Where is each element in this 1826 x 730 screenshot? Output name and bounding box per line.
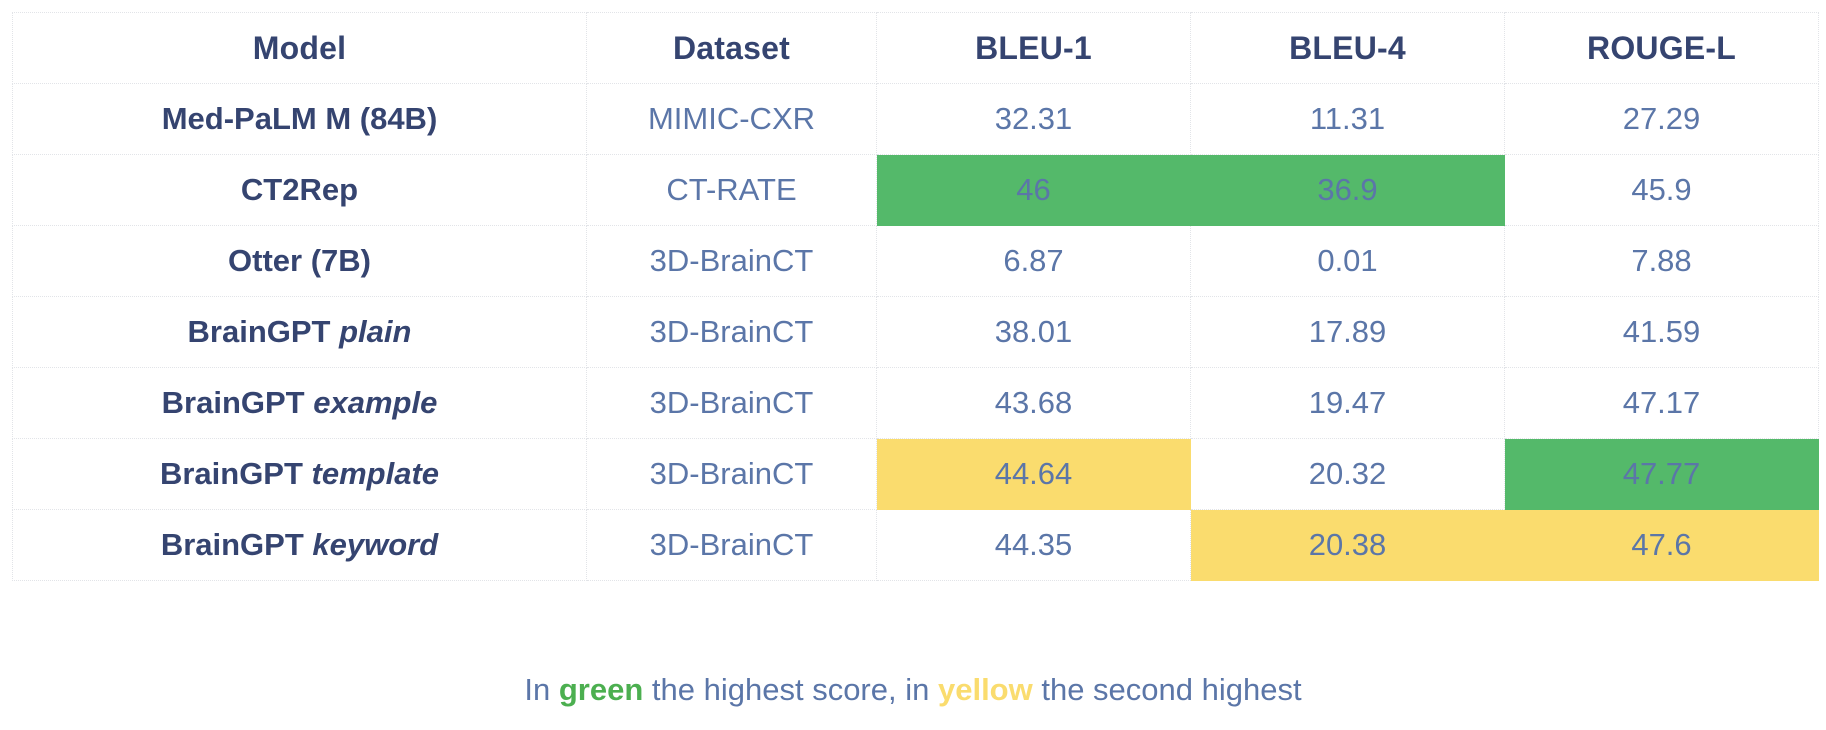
model-variant: keyword: [312, 527, 438, 562]
table-row: BrainGPT template3D-BrainCT44.6420.3247.…: [13, 439, 1819, 510]
table-header: Model Dataset BLEU-1 BLEU-4 ROUGE-L: [13, 13, 1819, 84]
cell-bleu-4: 0.01: [1191, 226, 1505, 297]
table-row: BrainGPT plain3D-BrainCT38.0117.8941.59: [13, 297, 1819, 368]
model-name: BrainGPT: [160, 456, 303, 491]
cell-rouge-l: 47.77: [1505, 439, 1819, 510]
cell-rouge-l: 27.29: [1505, 84, 1819, 155]
cell-dataset: 3D-BrainCT: [587, 439, 877, 510]
cell-bleu-1: 46: [877, 155, 1191, 226]
cell-bleu-4: 36.9: [1191, 155, 1505, 226]
model-variant: template: [312, 456, 439, 491]
table-body: Med-PaLM M (84B)MIMIC-CXR32.3111.3127.29…: [13, 84, 1819, 581]
cell-model: BrainGPT template: [13, 439, 587, 510]
column-header-rouge-l: ROUGE-L: [1505, 13, 1819, 84]
caption-text-part-3: the second highest: [1033, 672, 1302, 707]
model-variant: plain: [339, 314, 411, 349]
column-header-model: Model: [13, 13, 587, 84]
caption-keyword-green: green: [559, 672, 643, 707]
cell-dataset: 3D-BrainCT: [587, 297, 877, 368]
cell-bleu-1: 44.35: [877, 510, 1191, 581]
cell-model: BrainGPT plain: [13, 297, 587, 368]
header-row: Model Dataset BLEU-1 BLEU-4 ROUGE-L: [13, 13, 1819, 84]
cell-dataset: MIMIC-CXR: [587, 84, 877, 155]
caption-keyword-yellow: yellow: [938, 672, 1033, 707]
cell-dataset: 3D-BrainCT: [587, 226, 877, 297]
cell-dataset: CT-RATE: [587, 155, 877, 226]
caption-text-part-2: the highest score, in: [643, 672, 938, 707]
table-row: BrainGPT example3D-BrainCT43.6819.4747.1…: [13, 368, 1819, 439]
model-name: CT2Rep: [241, 172, 358, 207]
cell-model: BrainGPT keyword: [13, 510, 587, 581]
column-header-dataset: Dataset: [587, 13, 877, 84]
cell-model: BrainGPT example: [13, 368, 587, 439]
cell-bleu-4: 20.32: [1191, 439, 1505, 510]
cell-bleu-1: 44.64: [877, 439, 1191, 510]
column-header-bleu-4: BLEU-4: [1191, 13, 1505, 84]
cell-rouge-l: 45.9: [1505, 155, 1819, 226]
cell-rouge-l: 41.59: [1505, 297, 1819, 368]
model-name: BrainGPT: [161, 527, 304, 562]
cell-dataset: 3D-BrainCT: [587, 510, 877, 581]
cell-rouge-l: 7.88: [1505, 226, 1819, 297]
cell-bleu-4: 11.31: [1191, 84, 1505, 155]
model-variant: example: [313, 385, 437, 420]
cell-bleu-1: 6.87: [877, 226, 1191, 297]
cell-model: CT2Rep: [13, 155, 587, 226]
cell-bleu-1: 32.31: [877, 84, 1191, 155]
model-name: BrainGPT: [188, 314, 331, 349]
table-row: BrainGPT keyword3D-BrainCT44.3520.3847.6: [13, 510, 1819, 581]
model-name: BrainGPT: [162, 385, 305, 420]
cell-bleu-4: 19.47: [1191, 368, 1505, 439]
cell-rouge-l: 47.17: [1505, 368, 1819, 439]
cell-bleu-1: 43.68: [877, 368, 1191, 439]
figure-caption: In green the highest score, in yellow th…: [0, 672, 1826, 708]
model-name: Med-PaLM M (84B): [162, 101, 438, 136]
table-row: Otter (7B)3D-BrainCT6.870.017.88: [13, 226, 1819, 297]
cell-bleu-4: 17.89: [1191, 297, 1505, 368]
column-header-bleu-1: BLEU-1: [877, 13, 1191, 84]
results-table: Model Dataset BLEU-1 BLEU-4 ROUGE-L Med-…: [12, 12, 1819, 581]
cell-rouge-l: 47.6: [1505, 510, 1819, 581]
table-row: Med-PaLM M (84B)MIMIC-CXR32.3111.3127.29: [13, 84, 1819, 155]
cell-bleu-4: 20.38: [1191, 510, 1505, 581]
table-row: CT2RepCT-RATE4636.945.9: [13, 155, 1819, 226]
cell-model: Med-PaLM M (84B): [13, 84, 587, 155]
cell-dataset: 3D-BrainCT: [587, 368, 877, 439]
model-name: Otter (7B): [228, 243, 371, 278]
caption-text-part-1: In: [524, 672, 558, 707]
cell-bleu-1: 38.01: [877, 297, 1191, 368]
table-figure: Model Dataset BLEU-1 BLEU-4 ROUGE-L Med-…: [0, 0, 1826, 730]
cell-model: Otter (7B): [13, 226, 587, 297]
